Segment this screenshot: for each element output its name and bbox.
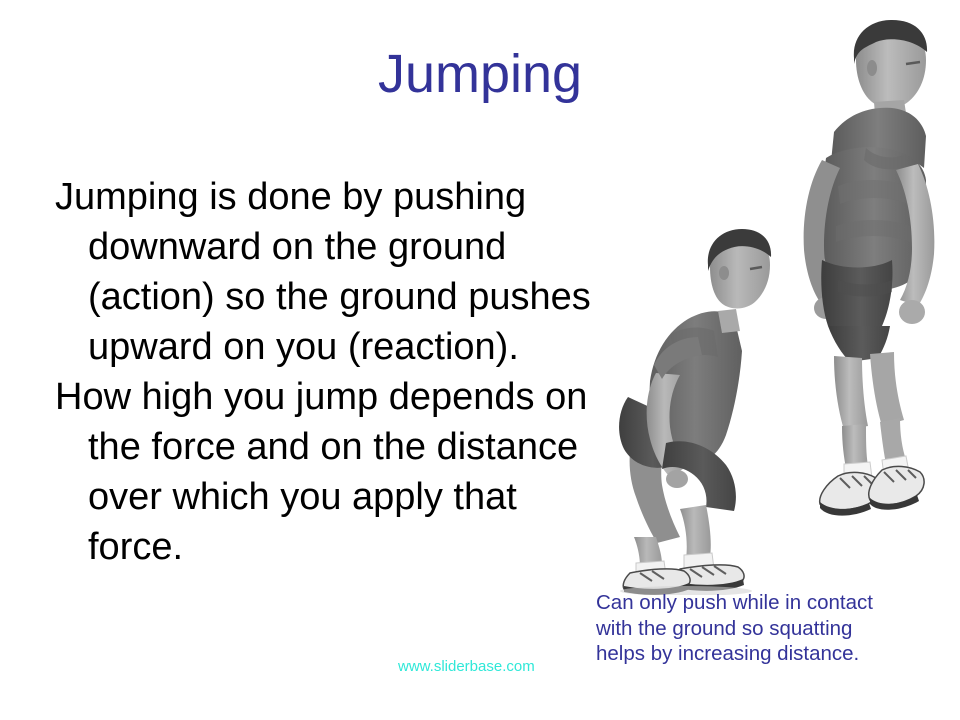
body-paragraph: How high you jump depends on the force a… [55,372,615,572]
caption-line: with the ground so squatting [596,616,946,642]
squatting-man-photo [610,185,780,595]
slide-canvas: Jumping Jumping is done by pushing downw… [0,0,960,720]
body-text-block: Jumping is done by pushing downward on t… [55,172,615,572]
source-watermark: www.sliderbase.com [398,658,535,676]
caption-line: helps by increasing distance. [596,641,946,667]
caption-line: Can only push while in contact [596,590,946,616]
figure-caption: Can only push while in contact with the … [596,590,946,667]
body-paragraph: Jumping is done by pushing downward on t… [55,172,615,372]
jumping-man-photo [778,8,943,523]
